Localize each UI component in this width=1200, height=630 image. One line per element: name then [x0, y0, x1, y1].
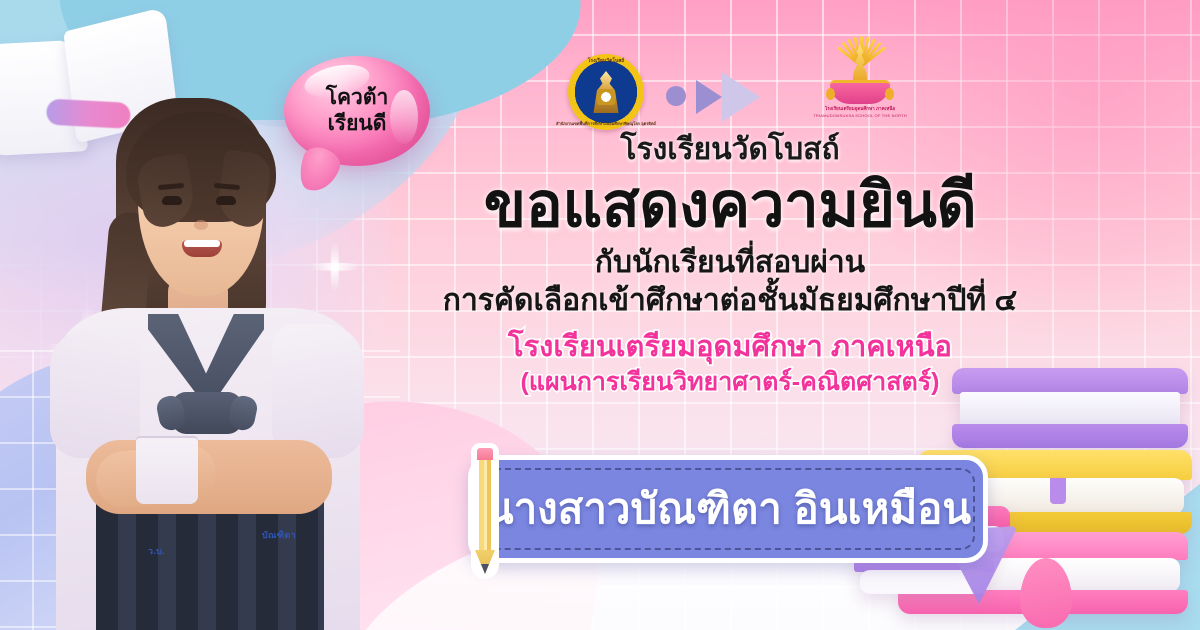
destination-school-name: โรงเรียนเตรียมอุดมศึกษา ภาคเหนือ	[380, 330, 1080, 366]
student-nameplate: นางสาวบัณฑิตา อินเหมือน	[468, 455, 988, 563]
student-name-text: นางสาวบัณฑิตา อินเหมือน	[485, 476, 971, 542]
school-name: โรงเรียนวัดโบสถ์	[380, 132, 1080, 167]
bubble-line-1: โควต้า	[326, 85, 389, 111]
emblem-caption-english: TRIAMUDOMSUKSA SCHOOL OF THE NORTH	[813, 113, 907, 118]
emblem-ring-text-top: โรงเรียนวัดโบสถ์	[588, 57, 625, 65]
congratulations-banner: ว.บ. บัณฑิตา โควต้า เรียนดี โรงเรียนวัดโ…	[0, 0, 1200, 630]
program-name: (แผนการเรียนวิทยาศาตร์-คณิตศาสตร์)	[380, 367, 1080, 399]
triangle-arrow-icon	[722, 72, 760, 122]
triamudomsuksa-north-emblem-icon: โรงเรียนเตรียมอุดมศึกษา ภาคเหนือ TRIAMUD…	[810, 30, 910, 130]
subtitle-line-2: การคัดเลือกเข้าศึกษาต่อชั้นมัธยมศึกษาปีท…	[380, 283, 1080, 320]
uniform-badge-left: ว.บ.	[148, 544, 165, 558]
pencil-icon	[474, 446, 496, 578]
subtitle-line-1: กับนักเรียนที่สอบผ่าน	[380, 245, 1080, 282]
congratulations-title: ขอแสดงความยินดี	[380, 171, 1080, 240]
dot-icon	[666, 86, 686, 106]
logo-row: โรงเรียนวัดโบสถ์ สำนักงานเขตพื้นที่การศึ…	[560, 30, 910, 130]
arrow-right-group-icon	[666, 74, 776, 120]
headline-block: โรงเรียนวัดโบสถ์ ขอแสดงความยินดี กับนักเ…	[380, 132, 1080, 398]
emblem-ring-text-bottom: สำนักงานเขตพื้นที่การศึกษามัธยมศึกษาพิษณ…	[556, 120, 656, 127]
bubble-line-2: เรียนดี	[328, 111, 387, 137]
wat-bot-school-emblem-icon: โรงเรียนวัดโบสถ์ สำนักงานเขตพื้นที่การศึ…	[568, 54, 644, 130]
triangle-arrow-icon	[696, 80, 722, 114]
uniform-badge-right: บัณฑิตา	[262, 528, 296, 542]
emblem-caption-thai: โรงเรียนเตรียมอุดมศึกษา ภาคเหนือ	[825, 106, 895, 113]
